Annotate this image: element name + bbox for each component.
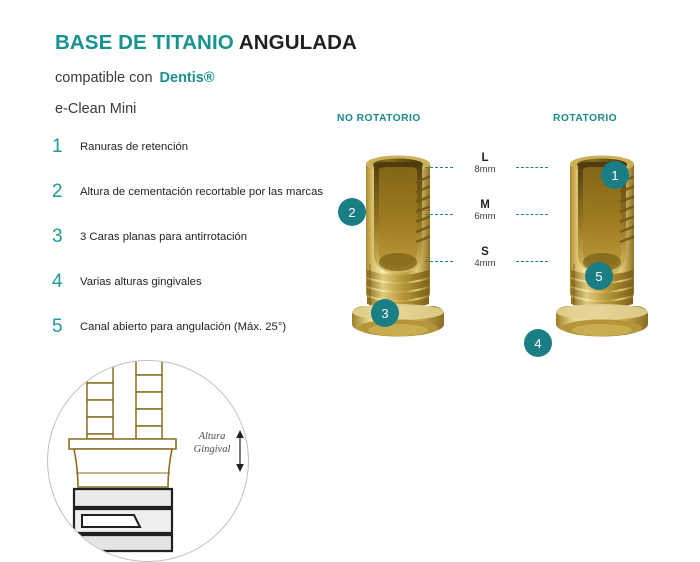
feature-number: 1 <box>52 137 72 156</box>
callout-badge-1: 1 <box>601 161 629 189</box>
inset-platform <box>69 439 176 449</box>
compatible-label: compatible con <box>55 70 153 86</box>
inset-implant-slot <box>82 515 140 527</box>
size-marker-S: S 4mm <box>455 246 515 269</box>
leader-line-left-M <box>425 214 453 215</box>
size-letter: L <box>455 152 515 164</box>
compatibility-line: compatible conDentis® <box>55 70 215 86</box>
page-title: BASE DE TITANIO ANGULADA <box>55 31 357 55</box>
inset-implant-base <box>74 535 172 551</box>
list-item: 3 3 Caras planas para antirrotación <box>52 230 342 260</box>
list-item: 1 Ranuras de retención <box>52 140 342 170</box>
inset-gingival-collar <box>74 449 172 487</box>
leader-line-right-L <box>516 167 548 168</box>
gingival-label-line2: Gingival <box>186 443 238 456</box>
callout-badge-2: 2 <box>338 198 366 226</box>
leader-line-right-M <box>516 214 548 215</box>
implant-image-non-rotating <box>338 142 458 357</box>
size-value: 8mm <box>455 164 515 175</box>
feature-text: Altura de cementación recortable por las… <box>80 185 342 200</box>
feature-list: 1 Ranuras de retención 2 Altura de cemen… <box>52 140 342 365</box>
implant-flange-seat <box>572 324 632 336</box>
feature-number: 4 <box>52 272 72 291</box>
callout-badge-3: 3 <box>371 299 399 327</box>
implant-flange-top <box>556 304 648 320</box>
feature-text: Ranuras de retención <box>80 140 342 155</box>
size-marker-M: M 6mm <box>455 199 515 222</box>
size-letter: M <box>455 199 515 211</box>
size-letter: S <box>455 246 515 258</box>
title-primary: BASE DE TITANIO <box>55 31 234 54</box>
list-item: 4 Varias alturas gingivales <box>52 275 342 305</box>
feature-text: Canal abierto para angulación (Máx. 25°) <box>80 320 342 335</box>
gingival-height-label: Altura Gingival <box>186 430 238 456</box>
feature-text: Varias alturas gingivales <box>80 275 342 290</box>
feature-text: 3 Caras planas para antirrotación <box>80 230 342 245</box>
column-header-non-rotating: NO ROTATORIO <box>337 113 421 124</box>
gingival-height-linedrawing <box>48 361 248 561</box>
implant-channel-inner-shade <box>379 167 417 267</box>
column-header-rotating: ROTATORIO <box>553 113 617 124</box>
callout-badge-4: 4 <box>524 329 552 357</box>
leader-line-right-S <box>516 261 548 262</box>
feature-number: 3 <box>52 227 72 246</box>
inset-implant-top <box>74 489 172 507</box>
feature-number: 5 <box>52 317 72 336</box>
list-item: 5 Canal abierto para angulación (Máx. 25… <box>52 320 342 350</box>
title-secondary: ANGULADA <box>239 31 357 54</box>
callout-badge-5: 5 <box>585 262 613 290</box>
system-name: e-Clean Mini <box>55 101 136 117</box>
implant-channel-floor <box>379 253 417 271</box>
size-value: 4mm <box>455 258 515 269</box>
leader-line-left-S <box>425 261 453 262</box>
gingival-height-inset <box>47 360 249 562</box>
brand-name: Dentis® <box>160 70 215 86</box>
list-item: 2 Altura de cementación recortable por l… <box>52 185 342 215</box>
size-marker-L: L 8mm <box>455 152 515 175</box>
gingival-label-line1: Altura <box>186 430 238 443</box>
leader-line-left-L <box>425 167 453 168</box>
implant-flange-seat <box>368 324 428 336</box>
size-value: 6mm <box>455 211 515 222</box>
inset-posts <box>87 361 162 439</box>
feature-number: 2 <box>52 182 72 201</box>
